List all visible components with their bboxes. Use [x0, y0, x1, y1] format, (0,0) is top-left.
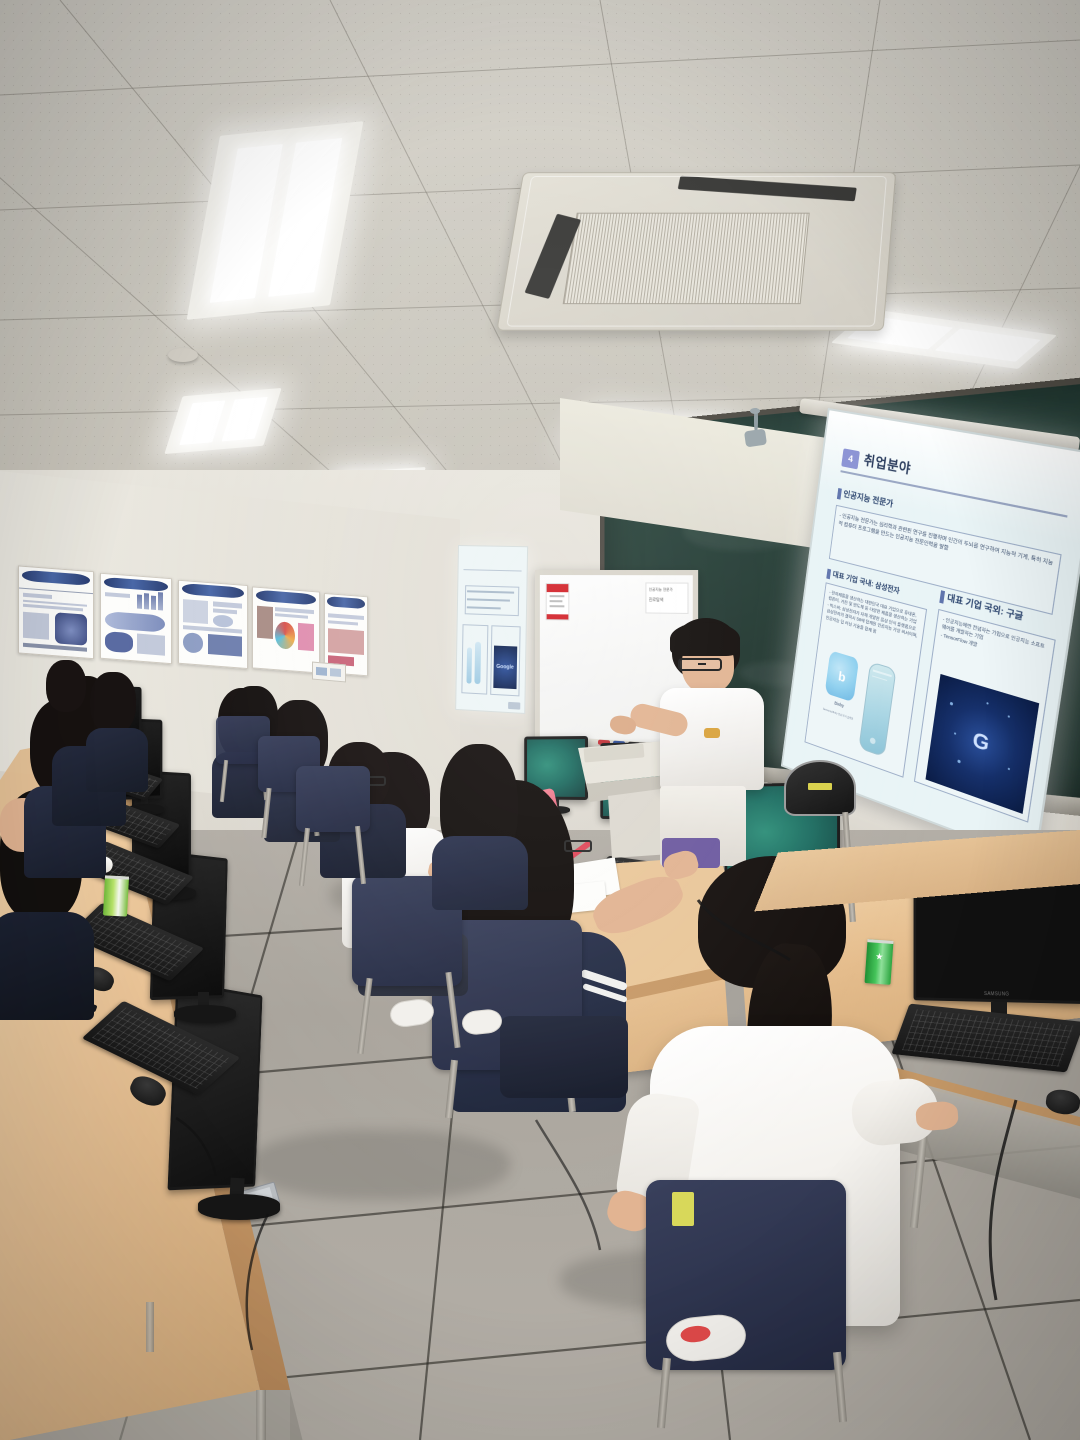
- poster-3-header: [182, 583, 245, 598]
- slide-title: 취업분야: [863, 449, 913, 477]
- bixby-icon: b: [825, 651, 860, 703]
- poster-2-header: [104, 577, 168, 593]
- projector: [742, 408, 768, 450]
- wall-sign: [312, 662, 346, 683]
- poster-5-header: [327, 596, 366, 609]
- slide-right-card-bar: [940, 590, 946, 603]
- poster-3: [178, 580, 248, 669]
- google-g-letter: G: [971, 728, 991, 757]
- student-b-shorts: [500, 1016, 628, 1098]
- round-stool: [784, 760, 856, 816]
- poster-2: [100, 573, 172, 665]
- monitor-brand-label: SAMSUNG: [984, 991, 1009, 997]
- side-projection-screen: Google: [455, 545, 528, 714]
- whiteboard-notice: [546, 583, 570, 620]
- student-back-5: [42, 660, 112, 760]
- smoke-detector: [168, 348, 198, 362]
- monitor-right-front-screen: SAMSUNG: [914, 880, 1080, 1004]
- side-screen-google-label: Google: [496, 664, 513, 671]
- poster-4: [252, 586, 320, 673]
- student-behind-c: [420, 744, 540, 904]
- poster-1: [18, 565, 94, 659]
- desk-leg-left-2: [146, 1302, 154, 1352]
- slide-section-number: 4: [841, 448, 860, 470]
- desk-leg-left-1: [256, 1390, 266, 1440]
- poster-1-header: [22, 569, 90, 585]
- chair-empty-3: [296, 766, 370, 832]
- instructor-shirt-logo: [704, 728, 720, 738]
- stool-label: [808, 783, 832, 790]
- slide-heading: 인공지능 전문가: [843, 489, 894, 511]
- chair-student-a-tag: [672, 1192, 694, 1226]
- slide-heading-bar: [837, 488, 842, 500]
- whiteboard-handwriting-1: 인공지능 전문가: [649, 586, 673, 591]
- student-b-glasses: [564, 840, 592, 852]
- galaxy-phone-image: [858, 661, 896, 757]
- classroom-photo: 4 취업분야 인공지능 전문가 - 인공지능 전문가는 심리학과 관련된 연구를…: [0, 0, 1080, 1440]
- poster-4-header: [256, 590, 317, 605]
- slide-left-card-bar: [826, 568, 831, 579]
- instructor: [652, 600, 792, 790]
- side-screen-google-image: Google: [493, 645, 517, 689]
- instructor-shirt: [660, 688, 764, 790]
- air-conditioner-cassette: [496, 172, 896, 330]
